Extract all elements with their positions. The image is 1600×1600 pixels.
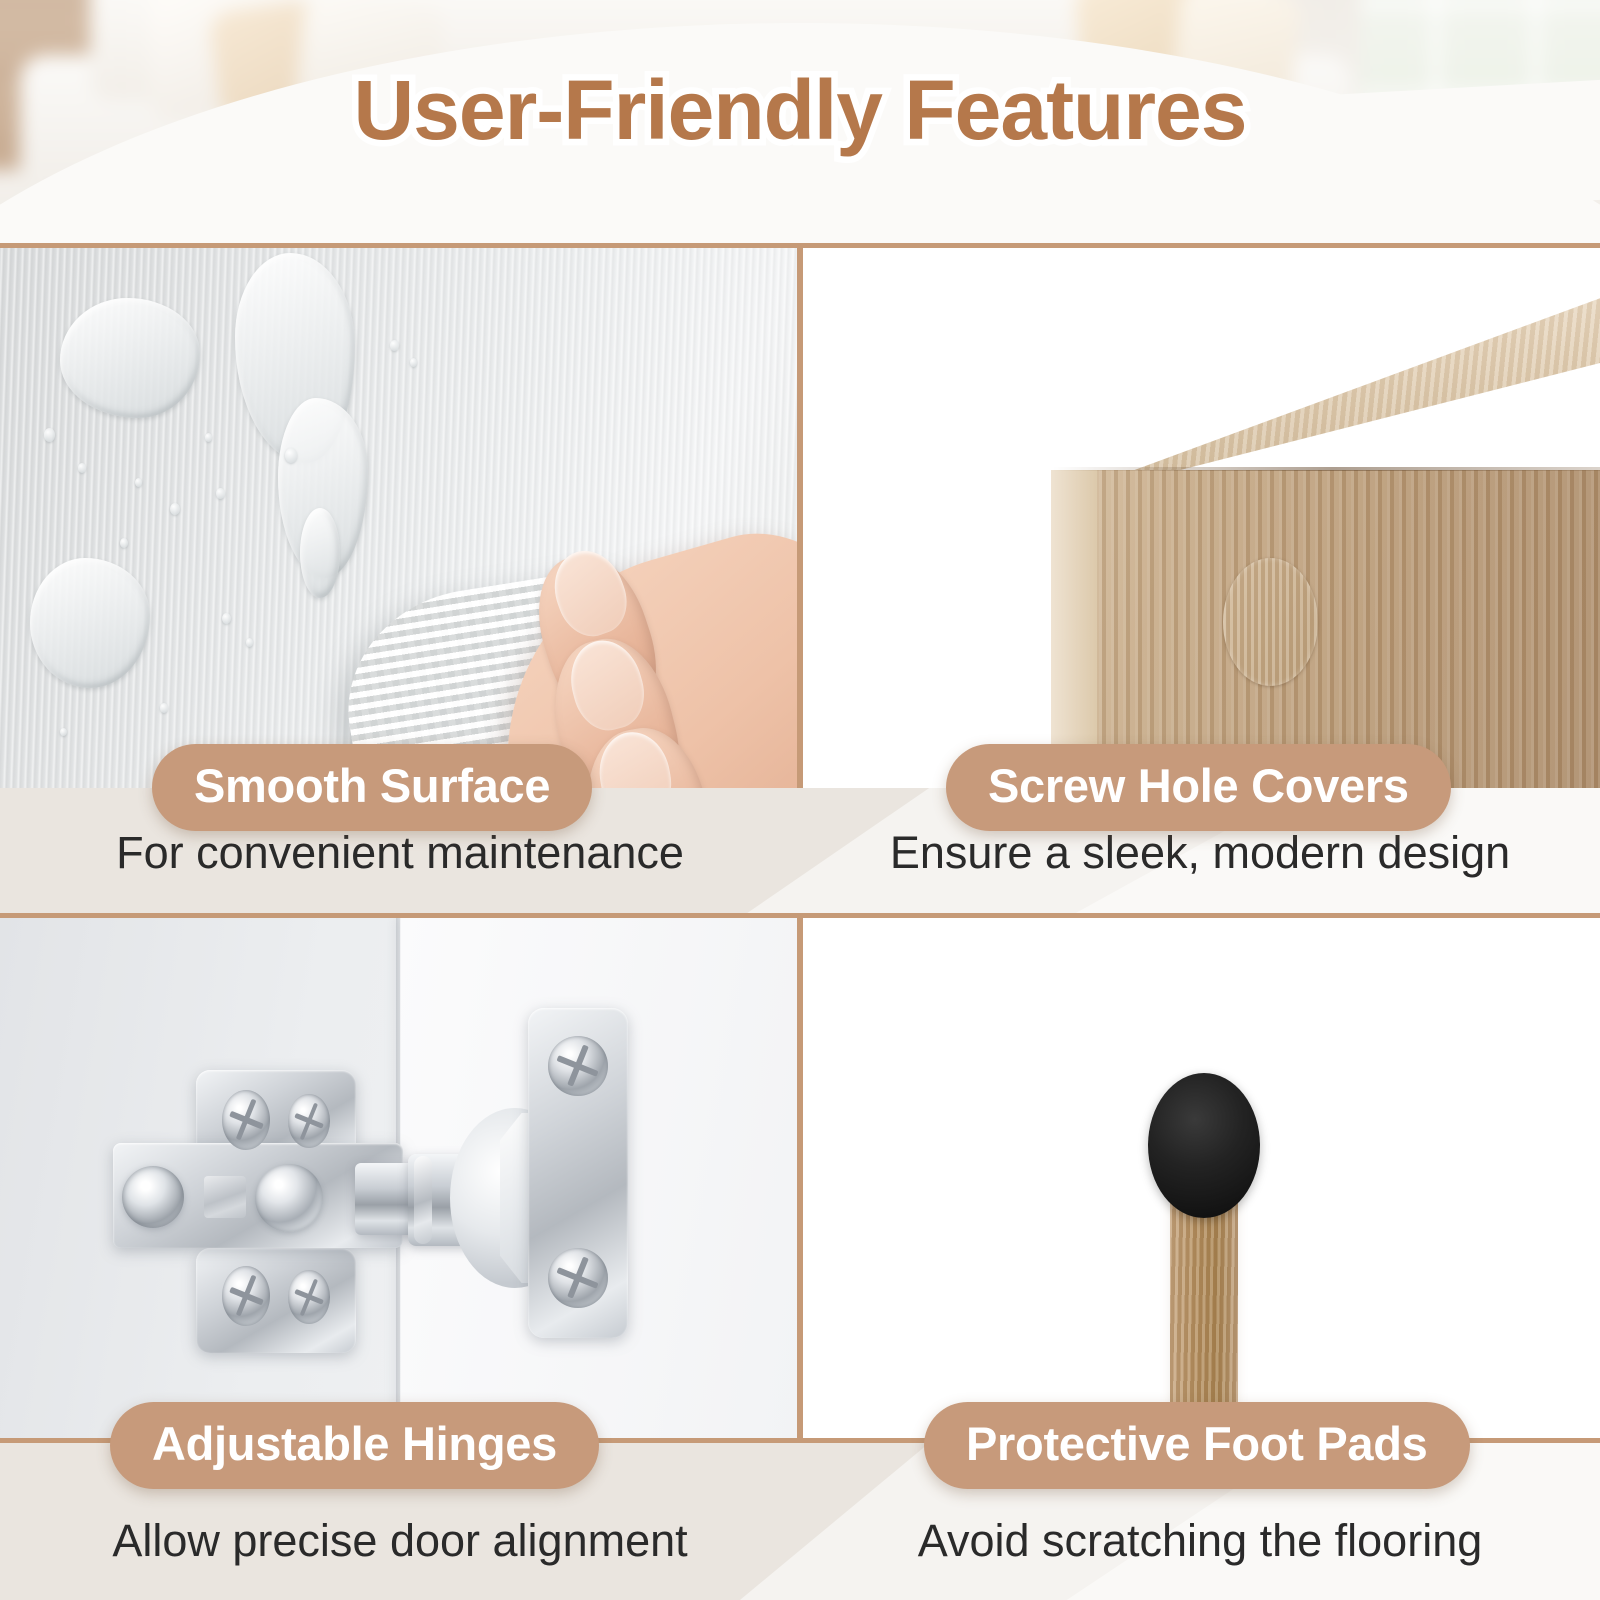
feature-image-screw-hole-covers: [803, 248, 1600, 788]
screw-hole-cover: [1223, 558, 1318, 686]
feature-image-protective-foot-pads: [803, 918, 1600, 1443]
foot-pad: [1148, 1073, 1260, 1218]
feature-caption-protective-foot-pads: Avoid scratching the flooring: [800, 1482, 1600, 1600]
feature-image-smooth-surface: [0, 248, 797, 788]
feature-image-adjustable-hinges: [0, 918, 797, 1443]
feature-badge-smooth-surface: Smooth Surface: [152, 744, 592, 831]
feature-caption-adjustable-hinges: Allow precise door alignment: [0, 1482, 800, 1600]
divider-vertical-row1: [797, 248, 803, 788]
infographic-page: User-Friendly Features: [0, 0, 1600, 1600]
feature-badge-screw-hole-covers: Screw Hole Covers: [946, 744, 1451, 831]
divider-vertical-row2: [797, 918, 803, 1443]
feature-badge-adjustable-hinges: Adjustable Hinges: [110, 1402, 599, 1489]
header-banner: User-Friendly Features: [0, 0, 1600, 248]
feature-badge-protective-foot-pads: Protective Foot Pads: [924, 1402, 1470, 1489]
page-title: User-Friendly Features: [354, 62, 1247, 159]
